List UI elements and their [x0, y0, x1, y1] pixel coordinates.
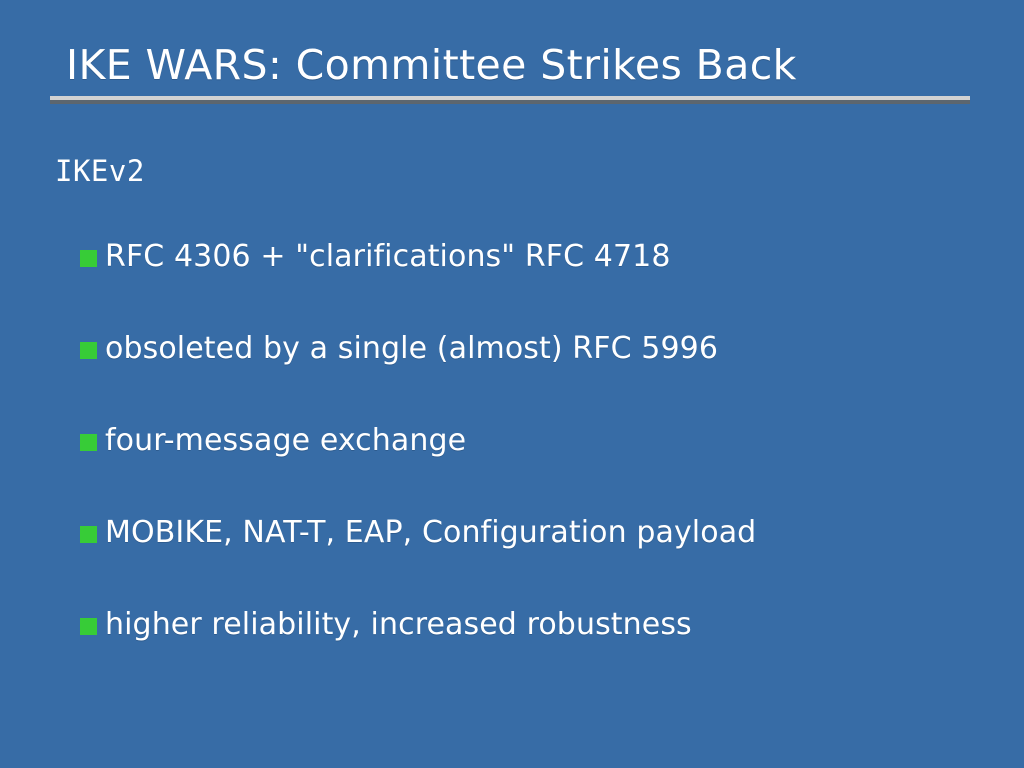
list-item-label: higher reliability, increased robustness	[105, 606, 980, 644]
list-item-label: RFC 4306 + "clarifications" RFC 4718	[105, 238, 980, 276]
list-item: obsoleted by a single (almost) RFC 5996	[80, 330, 980, 422]
list-item: four-message exchange	[80, 422, 980, 514]
list-item: MOBIKE, NAT-T, EAP, Configuration payloa…	[80, 514, 980, 606]
square-bullet-icon	[80, 250, 97, 267]
list-item-label: MOBIKE, NAT-T, EAP, Configuration payloa…	[105, 514, 980, 552]
square-bullet-icon	[80, 342, 97, 359]
presentation-slide: IKE WARS: Committee Strikes Back IKEv2 R…	[0, 0, 1024, 768]
square-bullet-icon	[80, 618, 97, 635]
list-item-label: obsoleted by a single (almost) RFC 5996	[105, 330, 980, 368]
title-underline-rule	[50, 96, 970, 104]
bullet-list: RFC 4306 + "clarifications" RFC 4718 obs…	[80, 238, 980, 698]
square-bullet-icon	[80, 434, 97, 451]
title-underline-shadow	[50, 100, 970, 104]
list-item-label: four-message exchange	[105, 422, 980, 460]
slide-subtitle: IKEv2	[55, 154, 145, 188]
square-bullet-icon	[80, 526, 97, 543]
slide-title-block: IKE WARS: Committee Strikes Back	[50, 40, 974, 90]
list-item: higher reliability, increased robustness	[80, 606, 980, 698]
list-item: RFC 4306 + "clarifications" RFC 4718	[80, 238, 980, 330]
page-title: IKE WARS: Committee Strikes Back	[50, 40, 974, 90]
